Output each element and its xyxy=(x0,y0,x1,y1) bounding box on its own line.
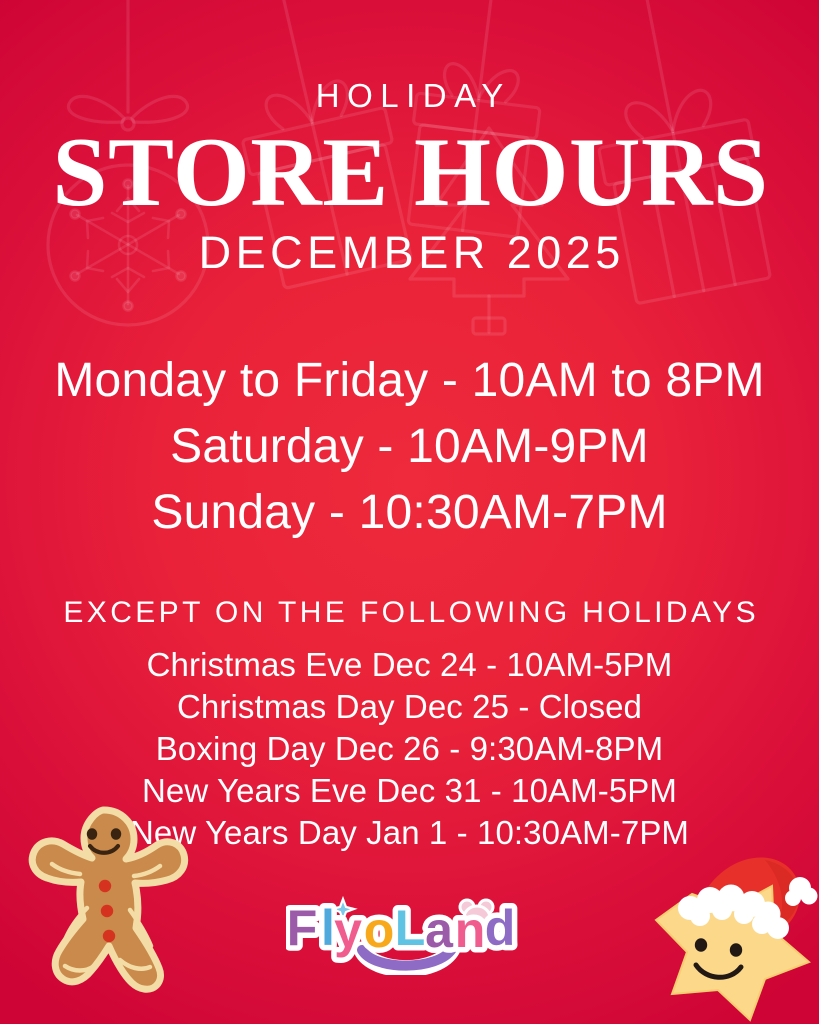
hours-line: Sunday - 10:30AM-7PM xyxy=(0,480,819,546)
holiday-line: Boxing Day Dec 26 - 9:30AM-8PM xyxy=(0,728,819,770)
logo-letter-L: L xyxy=(395,900,426,956)
logo-letter-d: d xyxy=(485,900,516,956)
star-with-santa-hat-icon xyxy=(634,852,819,1024)
page-title: STORE HOURS xyxy=(0,112,819,221)
holiday-line: Christmas Day Dec 25 - Closed xyxy=(0,686,819,728)
holidays-section-title: EXCEPT ON THE FOLLOWING HOLIDAYS xyxy=(0,598,819,628)
logo-letter-n: n xyxy=(455,902,486,958)
subtitle-month-year: DECEMBER 2025 xyxy=(0,221,819,275)
logo-letter-l: l xyxy=(321,900,335,956)
flyoland-logo[interactable]: F l y o L a n d F l y o L a n d xyxy=(286,893,534,975)
holiday-store-hours-poster: HOLIDAY STORE HOURS DECEMBER 2025 Monday… xyxy=(0,0,819,1024)
poster-header: HOLIDAY STORE HOURS DECEMBER 2025 xyxy=(0,0,819,275)
hours-line: Saturday - 10AM-9PM xyxy=(0,414,819,480)
regular-hours-list: Monday to Friday - 10AM to 8PM Saturday … xyxy=(0,348,819,546)
hours-line: Monday to Friday - 10AM to 8PM xyxy=(0,348,819,414)
logo-letter-a: a xyxy=(425,902,454,958)
holiday-line: Christmas Eve Dec 24 - 10AM-5PM xyxy=(0,644,819,686)
gingerbread-man-icon xyxy=(8,800,198,995)
kicker-text: HOLIDAY xyxy=(0,0,819,112)
logo-letter-y: y xyxy=(334,902,362,958)
logo-letter-o: o xyxy=(364,902,395,958)
logo-wordmark: F l y o L a n d F l y o L a n d xyxy=(287,900,516,958)
logo-letter-F: F xyxy=(287,900,318,956)
